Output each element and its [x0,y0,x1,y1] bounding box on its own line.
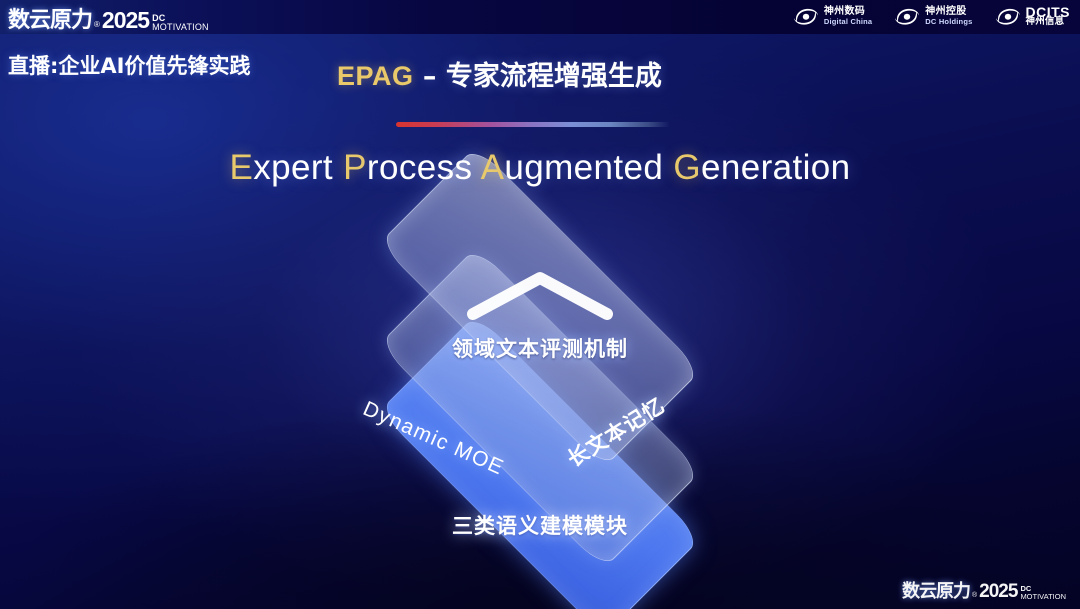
subtitle-part-3: rocess [367,148,481,187]
logo-digital-china: 神州数码 Digital China [793,6,872,27]
subtitle-part-7: eneration [701,148,851,187]
watermark-dc-motivation: DC MOTIVATION [1020,585,1066,600]
logo-digital-china-text: 神州数码 Digital China [824,7,872,27]
logo-cn-secondary: 神州信息 [1026,17,1071,27]
watermark-year: 2025 [979,582,1017,601]
logo-cn: 神州控股 [925,7,972,17]
brand-registered-mark: ® [94,18,100,32]
subtitle-part-1: xpert [253,148,343,187]
brand-name-cn: 数云原力 [8,10,92,32]
chevron-up-icon [465,268,615,322]
diagram-label-bottom: 三类语义建模模块 [0,510,1080,540]
logo-cn: 神州数码 [824,7,872,17]
watermark-name-cn: 数云原力 [902,583,970,601]
brand-motivation: MOTIVATION [152,23,209,32]
watermark-motivation: MOTIVATION [1020,593,1066,601]
logo-dcits-text: DCITS 神州信息 [1026,7,1071,27]
logo-en-primary: DCITS [1026,7,1071,17]
swirl-icon [793,6,819,27]
logo-en: Digital China [824,17,872,27]
subtitle: Expert Process Augmented Generation [0,148,1080,188]
page-title-rest: – 专家流程增强生成 [414,61,662,92]
watermark-registered-mark: ® [972,590,977,601]
logo-dc-holdings: 神州控股 DC Holdings [894,6,972,27]
slide-canvas: 数云原力 ® 2025 DC MOTIVATION 直播:企业AI价值先锋实践 … [0,0,1080,609]
subtitle-part-5: ugmented [504,148,673,187]
brand-watermark: 数云原力 ® 2025 DC MOTIVATION [902,582,1066,601]
partner-logo-group: 神州数码 Digital China 神州控股 DC Holdings [793,6,1070,27]
brand-logo: 数云原力 ® 2025 DC MOTIVATION [8,2,209,32]
brand-year: 2025 [102,9,149,32]
subtitle-part-4: A [481,148,505,187]
diagram-label-top: 领域文本评测机制 [0,333,1080,363]
live-session-title: 直播:企业AI价值先锋实践 [8,50,250,80]
page-title-accent: EPAG [337,61,414,91]
brand-dc-motivation: DC MOTIVATION [152,14,209,31]
logo-dc-holdings-text: 神州控股 DC Holdings [925,7,972,27]
logo-en: DC Holdings [925,17,972,27]
gradient-divider [396,122,670,127]
swirl-icon [995,6,1021,27]
logo-dcits: DCITS 神州信息 [995,6,1071,27]
page-title: EPAG – 专家流程增强生成 [337,54,662,93]
subtitle-part-2: P [343,148,367,187]
subtitle-part-0: E [229,148,253,187]
swirl-icon [894,6,920,27]
subtitle-part-6: G [673,148,701,187]
